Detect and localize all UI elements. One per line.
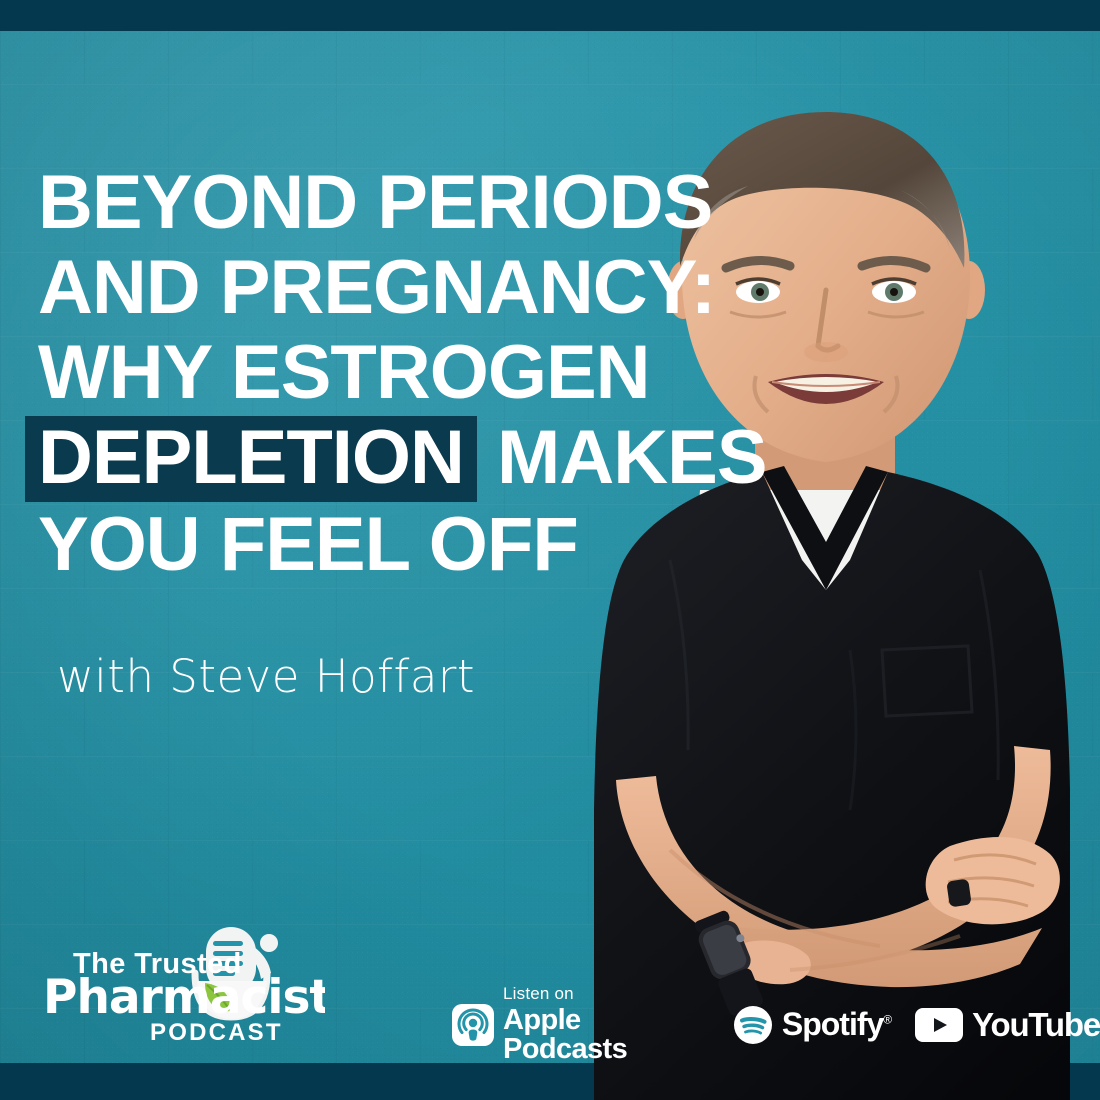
- platform-badges: Listen on Apple Podcasts Spotify®: [452, 985, 1100, 1064]
- badge-apple-podcasts[interactable]: Listen on Apple Podcasts: [452, 985, 709, 1064]
- title-line-4: DEPLETION MAKES: [38, 415, 868, 502]
- podcast-logo: The Trusted Pharmacist PODCAST: [45, 925, 325, 1045]
- spotify-label: Spotify®: [782, 1006, 891, 1043]
- spotify-icon: [733, 1005, 773, 1045]
- title-highlight-word: DEPLETION: [25, 416, 477, 502]
- apple-podcasts-label: Listen on Apple Podcasts: [503, 985, 709, 1064]
- apple-podcasts-text: Apple Podcasts: [503, 1006, 709, 1064]
- top-navy-bar: [0, 0, 1100, 31]
- badge-spotify[interactable]: Spotify®: [733, 1005, 891, 1045]
- title-line-5: YOU FEEL OFF: [38, 502, 868, 587]
- apple-podcasts-icon: [452, 1004, 494, 1046]
- apple-listen-on-text: Listen on: [503, 985, 709, 1002]
- badge-youtube[interactable]: YouTube: [915, 1006, 1100, 1044]
- logo-line-pharmacist: Pharmacist: [45, 970, 325, 1025]
- youtube-label: YouTube: [972, 1006, 1100, 1044]
- youtube-play-icon: [915, 1008, 963, 1042]
- episode-subtitle: with Steve Hoffart: [57, 650, 475, 703]
- spotify-registered-mark: ®: [883, 1012, 891, 1026]
- title-line-3: WHY ESTROGEN: [38, 330, 868, 415]
- episode-title: BEYOND PERIODS AND PREGNANCY: WHY ESTROG…: [38, 160, 868, 587]
- spotify-text: Spotify: [782, 1006, 883, 1042]
- title-line-2: AND PREGNANCY:: [38, 245, 868, 330]
- title-line-4-rest: MAKES: [497, 415, 766, 500]
- title-line-1: BEYOND PERIODS: [38, 160, 868, 245]
- podcast-cover-image: BEYOND PERIODS AND PREGNANCY: WHY ESTROG…: [0, 0, 1100, 1100]
- logo-line-podcast: PODCAST: [150, 1019, 283, 1045]
